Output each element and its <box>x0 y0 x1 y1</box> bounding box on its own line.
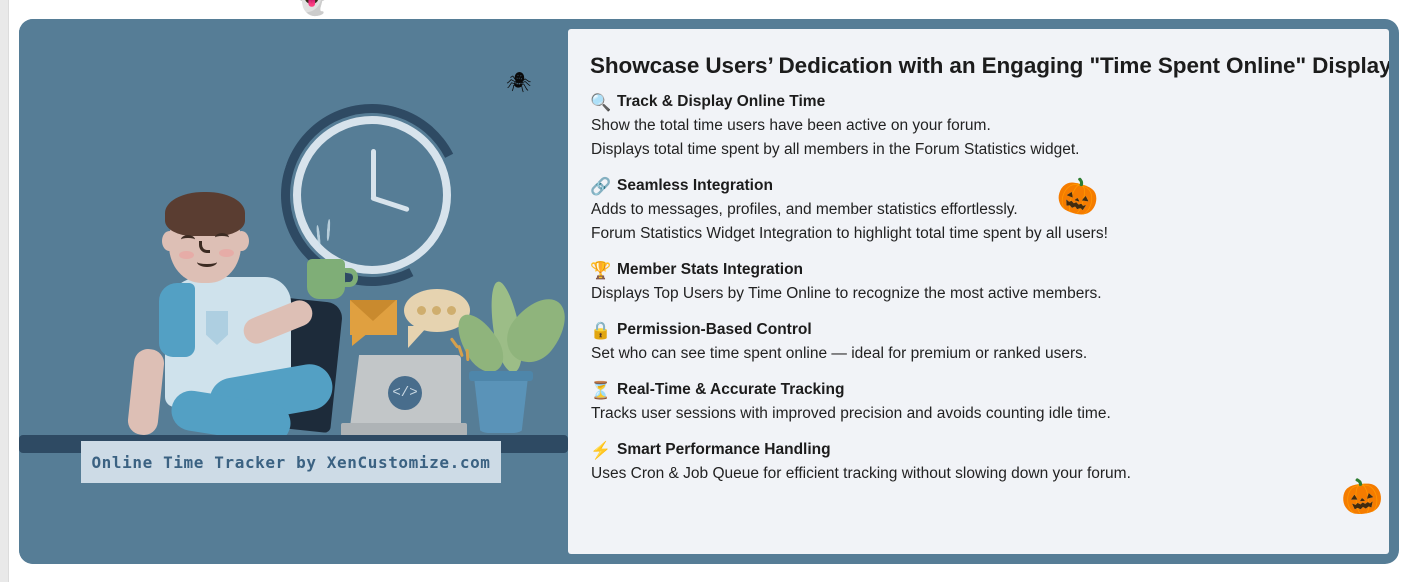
code-logo-icon: </> <box>388 376 422 410</box>
feature-heading: ⚡ Smart Performance Handling <box>590 441 1363 459</box>
feature-heading: 🔍 Track & Display Online Time <box>590 93 1363 111</box>
ghost-icon: 👻 <box>296 0 328 14</box>
page-title: Showcase Users’ Dedication with an Engag… <box>590 53 1363 79</box>
illustration-caption-text: Online Time Tracker by XenCustomize.com <box>91 453 490 472</box>
feature-heading: 🏆 Member Stats Integration <box>590 261 1363 279</box>
page-gutter <box>0 0 9 582</box>
hourglass-icon: ⏳ <box>590 382 610 399</box>
coffee-mug <box>307 259 345 299</box>
feature-description-line: Set who can see time spent online — idea… <box>590 342 1363 366</box>
person-mouth <box>197 257 217 267</box>
spider-icon: 🕷 <box>506 73 531 93</box>
feature-description-line: Displays total time spent by all members… <box>590 138 1363 162</box>
speech-bubble-dot <box>417 306 426 315</box>
feature-title: Track & Display Online Time <box>617 93 825 111</box>
person-sleeve <box>159 283 195 357</box>
feature-heading: 🔒 Permission-Based Control <box>590 321 1363 339</box>
link-icon: 🔗 <box>590 178 610 195</box>
clock-hour-hand <box>371 149 376 199</box>
plant-pot <box>474 377 528 433</box>
person-cheek-left <box>179 251 194 259</box>
promo-card: 🕷 <box>19 19 1399 564</box>
feature-description-line: Forum Statistics Widget Integration to h… <box>590 222 1363 246</box>
feature-title: Real-Time & Accurate Tracking <box>617 381 844 399</box>
person-hair <box>165 192 245 236</box>
illustration-caption-banner: Online Time Tracker by XenCustomize.com <box>81 441 501 483</box>
plant-pot-rim <box>469 371 533 381</box>
person-back-arm <box>127 348 166 437</box>
feature-list-panel: Showcase Users’ Dedication with an Engag… <box>568 29 1389 554</box>
lightning-bolt-icon: ⚡ <box>590 442 610 459</box>
trophy-icon: 🏆 <box>590 262 610 279</box>
lock-icon: 🔒 <box>590 322 610 339</box>
feature-item: 🔗 Seamless Integration Adds to messages,… <box>590 177 1363 246</box>
feature-description-line: Tracks user sessions with improved preci… <box>590 402 1363 426</box>
feature-description-line: Adds to messages, profiles, and member s… <box>590 198 1363 222</box>
feature-item: 🔍 Track & Display Online Time Show the t… <box>590 93 1363 162</box>
feature-description-line: Uses Cron & Job Queue for efficient trac… <box>590 462 1363 486</box>
product-illustration: 🕷 <box>19 19 568 564</box>
feature-title: Smart Performance Handling <box>617 441 831 459</box>
person-cheek-right <box>219 249 234 257</box>
feature-heading: ⏳ Real-Time & Accurate Tracking <box>590 381 1363 399</box>
person-eye-left <box>181 235 195 244</box>
feature-description-line: Displays Top Users by Time Online to rec… <box>590 282 1363 306</box>
feature-item: ⚡ Smart Performance Handling Uses Cron &… <box>590 441 1363 486</box>
speech-bubble-dot <box>447 306 456 315</box>
feature-item: ⏳ Real-Time & Accurate Tracking Tracks u… <box>590 381 1363 426</box>
feature-description-line: Show the total time users have been acti… <box>590 114 1363 138</box>
magnifying-glass-icon: 🔍 <box>590 94 610 111</box>
feature-item: 🏆 Member Stats Integration Displays Top … <box>590 261 1363 306</box>
coffee-mug-handle <box>341 268 358 287</box>
feature-title: Member Stats Integration <box>617 261 803 279</box>
envelope-icon <box>350 300 397 335</box>
feature-heading: 🔗 Seamless Integration <box>590 177 1363 195</box>
person-eye-right <box>215 233 229 242</box>
feature-item: 🔒 Permission-Based Control Set who can s… <box>590 321 1363 366</box>
feature-title: Seamless Integration <box>617 177 773 195</box>
speech-bubble-dot <box>432 306 441 315</box>
feature-title: Permission-Based Control <box>617 321 812 339</box>
